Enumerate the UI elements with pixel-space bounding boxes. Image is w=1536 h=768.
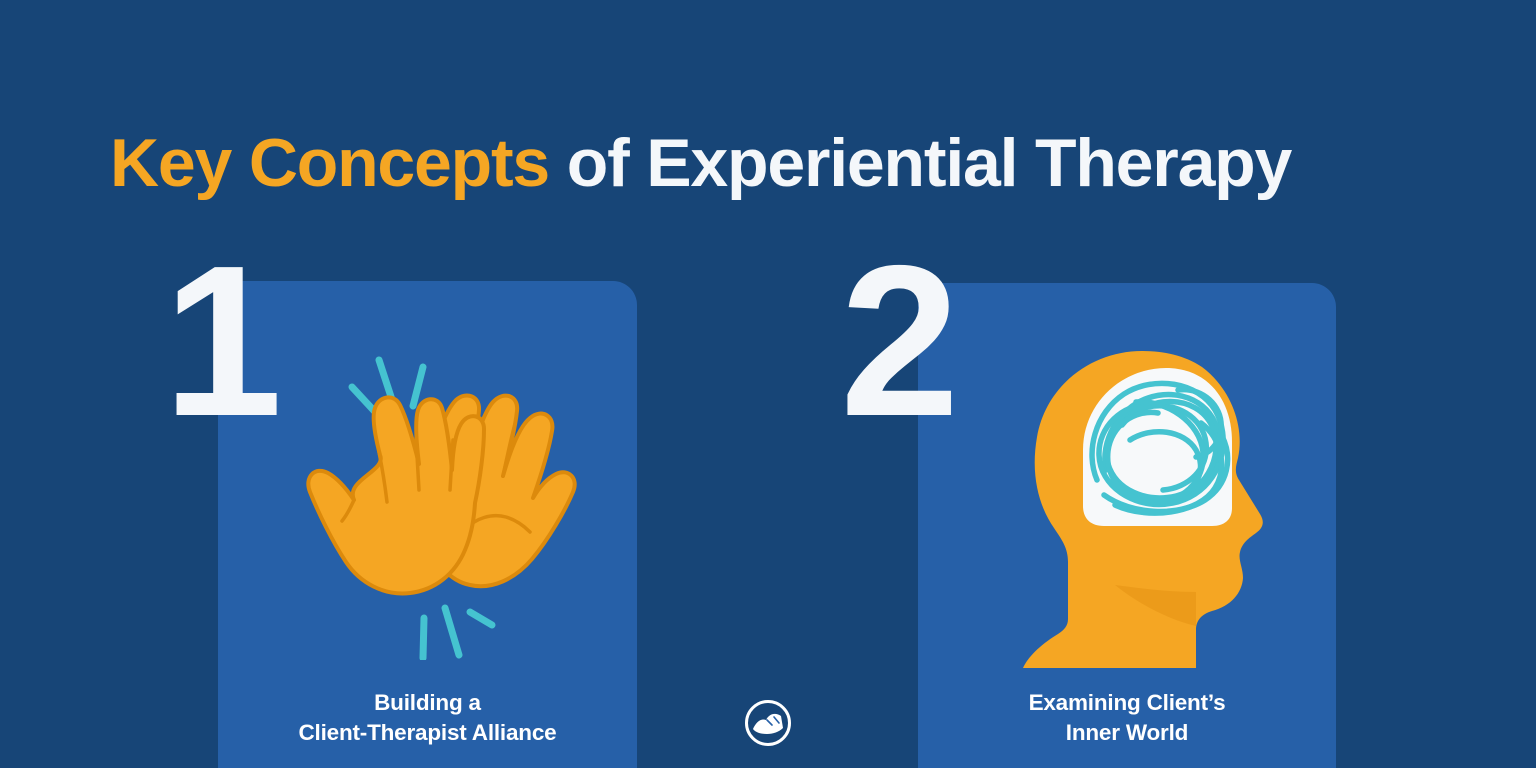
- hand-left: [308, 397, 484, 593]
- circle-mountains-logo: [743, 698, 793, 748]
- title-accent-text: Key Concepts: [110, 125, 549, 201]
- caption-2-line-2: Inner World: [918, 718, 1336, 748]
- caption-2-line-1: Examining Client’s: [918, 688, 1336, 718]
- clapping-hands-icon: [260, 340, 580, 660]
- caption-1-line-1: Building a: [218, 688, 637, 718]
- infographic-canvas: Key Concepts of Experiential Therapy 1: [0, 0, 1536, 768]
- sparkle-rays-bottom: [423, 608, 492, 658]
- concept-caption-1: Building a Client-Therapist Alliance: [218, 688, 637, 748]
- concept-number-2: 2: [840, 233, 956, 448]
- caption-1-line-2: Client-Therapist Alliance: [218, 718, 637, 748]
- page-title: Key Concepts of Experiential Therapy: [110, 129, 1430, 197]
- head-tangled-thoughts-icon: [1000, 330, 1300, 670]
- title-plain-text: of Experiential Therapy: [549, 125, 1291, 201]
- concept-caption-2: Examining Client’s Inner World: [918, 688, 1336, 748]
